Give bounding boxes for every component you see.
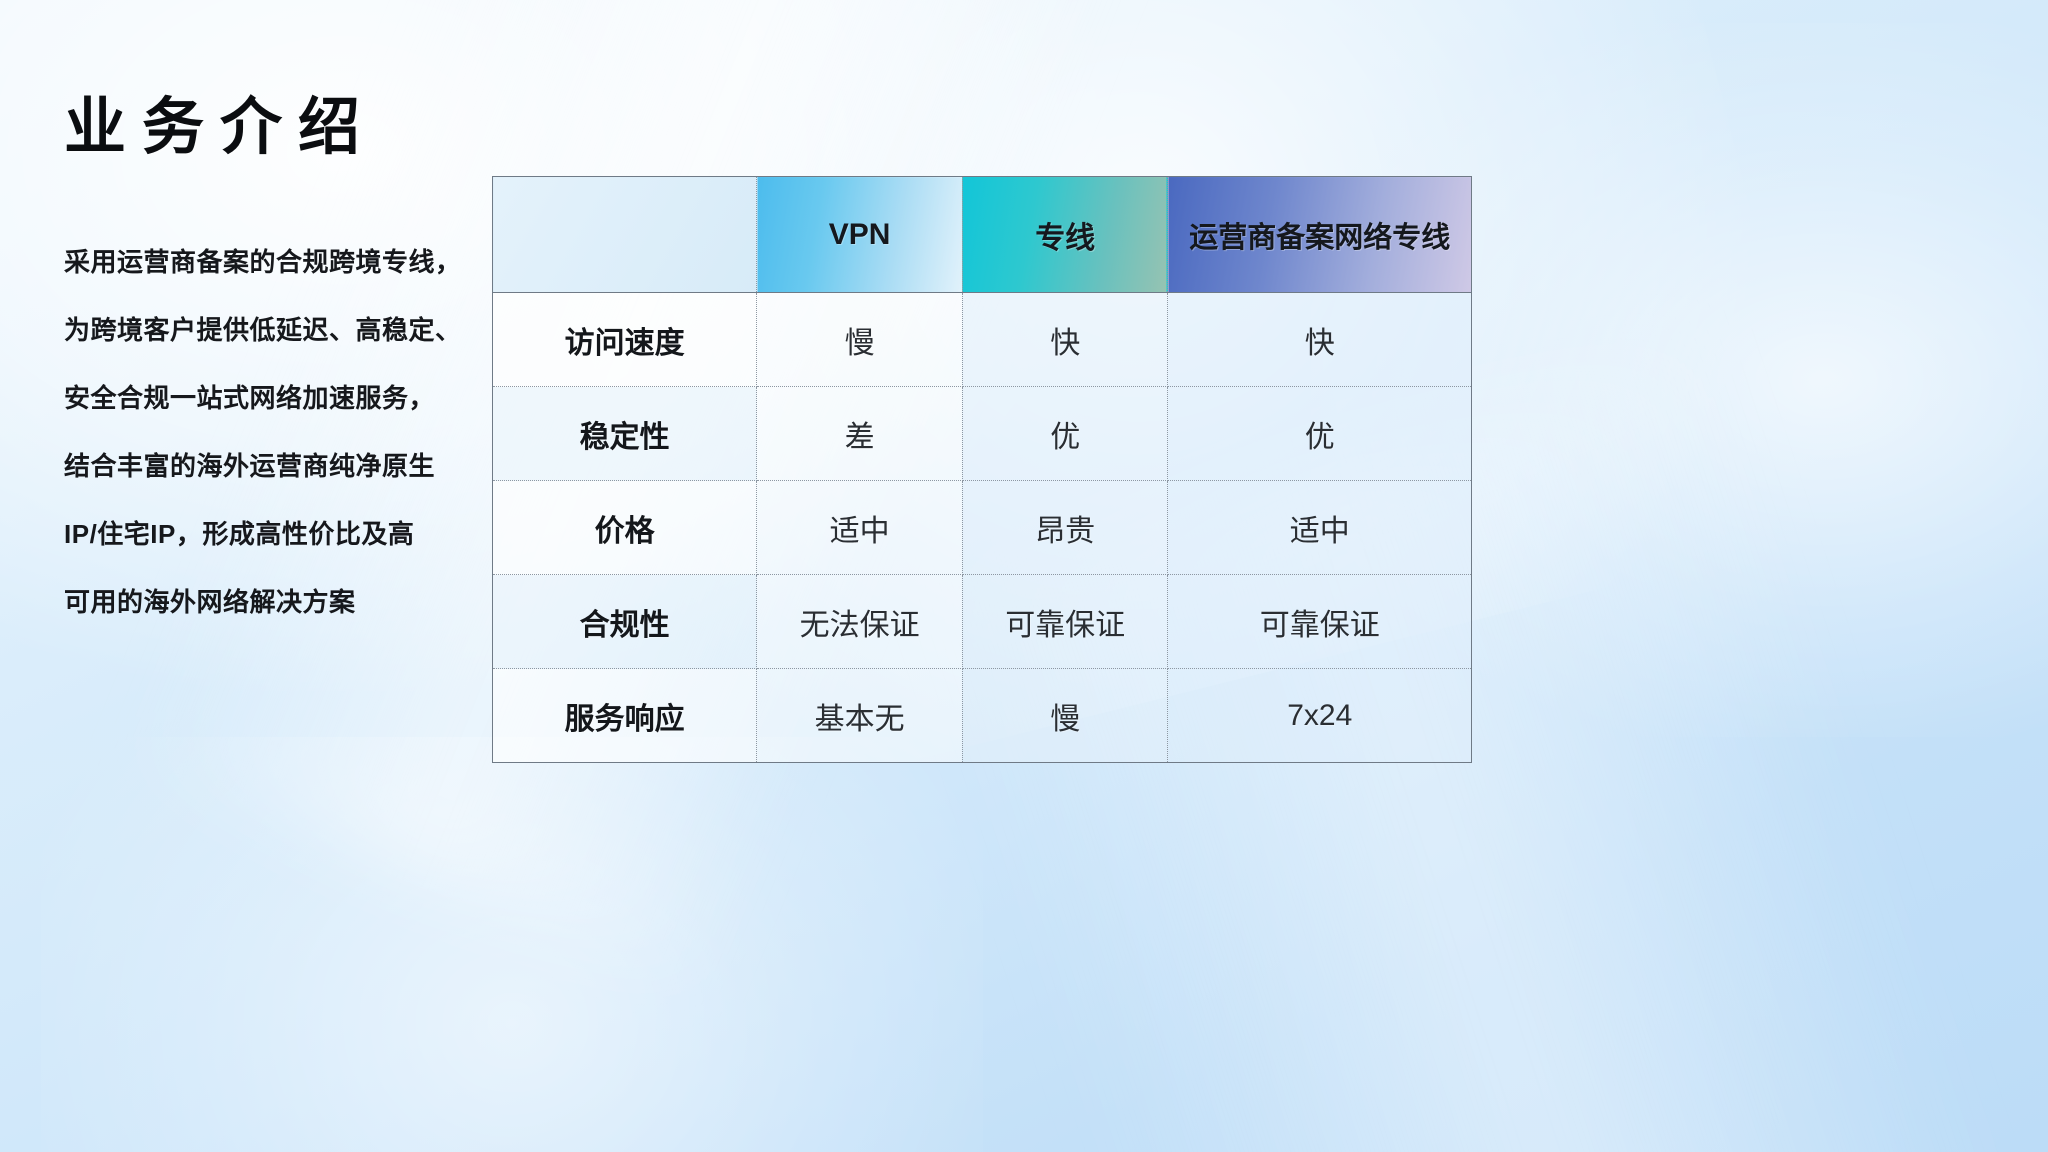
cell-price-line: 昂贵 — [962, 481, 1168, 575]
cell-access-speed-vpn: 慢 — [757, 293, 963, 387]
table-row: 价格 适中 昂贵 适中 — [493, 481, 1472, 575]
cell-access-speed-line: 快 — [962, 293, 1168, 387]
background-glow-bottom-left — [41, 737, 983, 1152]
table-row: 合规性 无法保证 可靠保证 可靠保证 — [493, 575, 1472, 669]
intro-paragraph: 采用运营商备案的合规跨境专线， 为跨境客户提供低延迟、高稳定、 安全合规一站式网… — [64, 228, 484, 636]
table-row: 访问速度 慢 快 快 — [493, 293, 1472, 387]
row-label-stability: 稳定性 — [493, 387, 757, 481]
cell-service-response-carrier: 7x24 — [1168, 669, 1472, 763]
intro-line: 结合丰富的海外运营商纯净原生 — [64, 432, 484, 500]
cell-price-carrier: 适中 — [1168, 481, 1472, 575]
cell-service-response-line: 慢 — [962, 669, 1168, 763]
cell-service-response-vpn: 基本无 — [757, 669, 963, 763]
cell-compliance-vpn: 无法保证 — [757, 575, 963, 669]
intro-line: 安全合规一站式网络加速服务， — [64, 364, 484, 432]
table-header-vpn: VPN — [757, 177, 963, 293]
cell-stability-vpn: 差 — [757, 387, 963, 481]
intro-line: 可用的海外网络解决方案 — [64, 568, 484, 636]
page-title: 业务介绍 — [64, 94, 376, 162]
intro-line: 为跨境客户提供低延迟、高稳定、 — [64, 296, 484, 364]
slide-canvas: 业务介绍 采用运营商备案的合规跨境专线， 为跨境客户提供低延迟、高稳定、 安全合… — [0, 0, 2048, 1152]
intro-line: IP/住宅IP，形成高性价比及高 — [64, 500, 484, 568]
cell-compliance-carrier: 可靠保证 — [1168, 575, 1472, 669]
table-row: 稳定性 差 优 优 — [493, 387, 1472, 481]
table-header-row: VPN 专线 运营商备案网络专线 — [493, 177, 1472, 293]
table-body: 访问速度 慢 快 快 稳定性 差 优 优 价格 适中 昂贵 适中 合规性 无法保… — [493, 293, 1472, 763]
table-header: VPN 专线 运营商备案网络专线 — [493, 177, 1472, 293]
cell-stability-line: 优 — [962, 387, 1168, 481]
cell-stability-carrier: 优 — [1168, 387, 1472, 481]
cell-price-vpn: 适中 — [757, 481, 963, 575]
table-header-dedicated-line: 专线 — [962, 177, 1168, 293]
comparison-table: VPN 专线 运营商备案网络专线 访问速度 慢 快 快 稳定性 差 优 优 价格… — [492, 176, 1472, 763]
row-label-service-response: 服务响应 — [493, 669, 757, 763]
intro-line: 采用运营商备案的合规跨境专线， — [64, 228, 484, 296]
table-header-carrier-line: 运营商备案网络专线 — [1168, 177, 1472, 293]
table-header-blank — [493, 177, 757, 293]
row-label-access-speed: 访问速度 — [493, 293, 757, 387]
cell-access-speed-carrier: 快 — [1168, 293, 1472, 387]
row-label-price: 价格 — [493, 481, 757, 575]
cell-compliance-line: 可靠保证 — [962, 575, 1168, 669]
row-label-compliance: 合规性 — [493, 575, 757, 669]
table-row: 服务响应 基本无 慢 7x24 — [493, 669, 1472, 763]
